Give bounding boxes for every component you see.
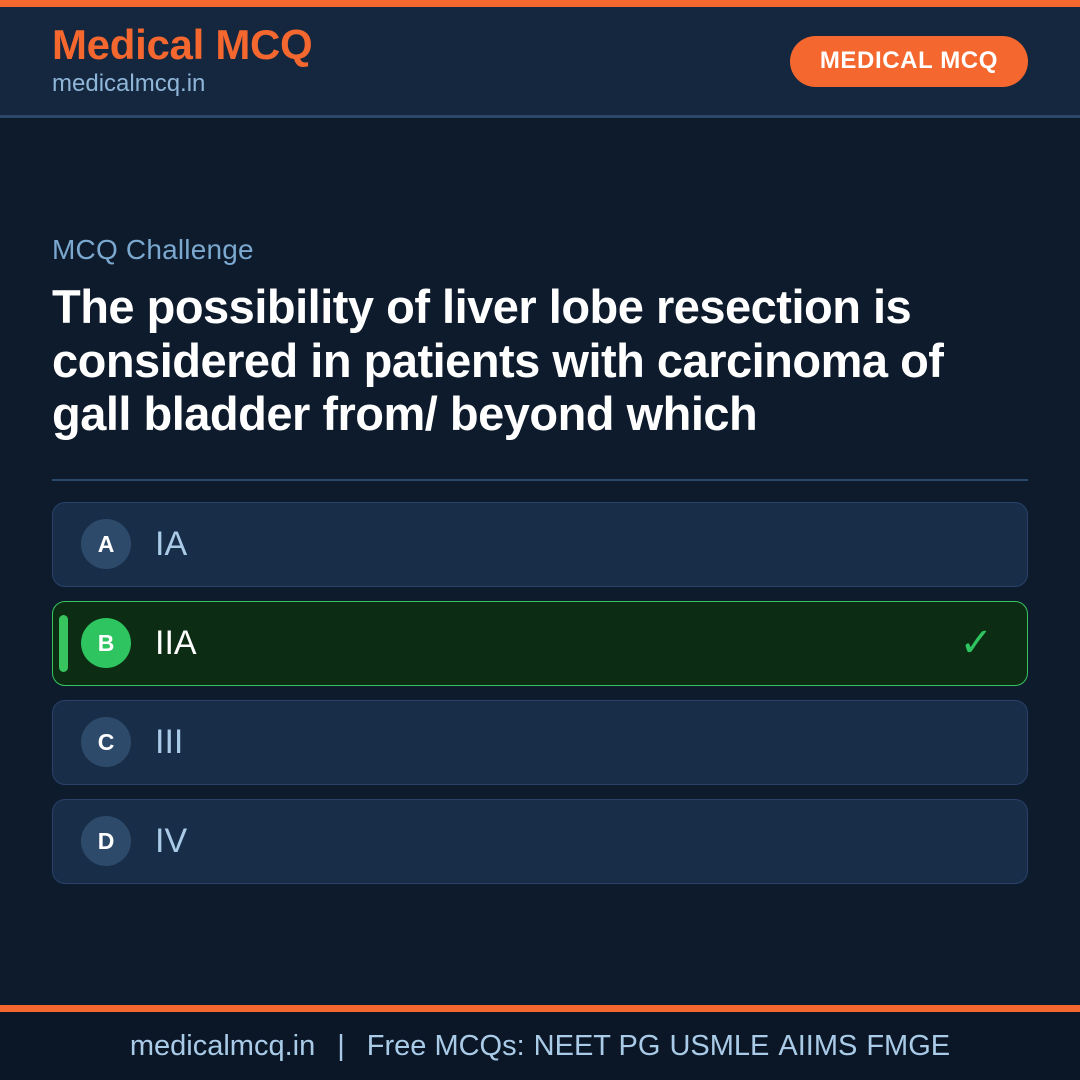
options-list: A IA B IIA ✓ C III D IV [52, 502, 1028, 884]
top-accent-bar [0, 0, 1080, 7]
option-row-c[interactable]: C III [52, 700, 1028, 785]
correct-accent-bar [59, 615, 68, 672]
option-text-a: IA [155, 527, 993, 561]
footer-tag-aiims: AIIMS [769, 1032, 857, 1061]
footer-separator: | [315, 1032, 367, 1061]
option-text-d: IV [155, 824, 993, 858]
footer-accent-bar [0, 1005, 1080, 1012]
mcq-card: Medical MCQ medicalmcq.in MEDICAL MCQ MC… [0, 0, 1080, 1080]
question-text: The possibility of liver lobe resection … [52, 280, 982, 441]
header-badge: MEDICAL MCQ [790, 36, 1028, 87]
main-content: MCQ Challenge The possibility of liver l… [0, 118, 1080, 1005]
option-key-a: A [81, 519, 131, 569]
footer-tag-fmge: FMGE [857, 1032, 950, 1061]
brand: Medical MCQ medicalmcq.in [52, 23, 312, 98]
footer-tag-usmle: USMLE [660, 1032, 769, 1061]
option-row-d[interactable]: D IV [52, 799, 1028, 884]
option-key-d: D [81, 816, 131, 866]
footer-label: Free MCQs: [367, 1032, 525, 1061]
footer: medicalmcq.in | Free MCQs: NEET PG USMLE… [0, 1012, 1080, 1080]
brand-title: Medical MCQ [52, 23, 312, 67]
option-key-b: B [81, 618, 131, 668]
brand-subtitle: medicalmcq.in [52, 70, 312, 99]
footer-site: medicalmcq.in [130, 1032, 315, 1061]
option-row-a[interactable]: A IA [52, 502, 1028, 587]
check-icon-b: ✓ [959, 623, 993, 663]
option-text-b: IIA [155, 626, 959, 660]
eyebrow-label: MCQ Challenge [52, 236, 1028, 264]
option-row-b[interactable]: B IIA ✓ [52, 601, 1028, 686]
header: Medical MCQ medicalmcq.in MEDICAL MCQ [0, 7, 1080, 118]
footer-tag-neet-pg: NEET PG [525, 1032, 661, 1061]
question-divider [52, 479, 1028, 481]
option-key-c: C [81, 717, 131, 767]
option-text-c: III [155, 725, 993, 759]
